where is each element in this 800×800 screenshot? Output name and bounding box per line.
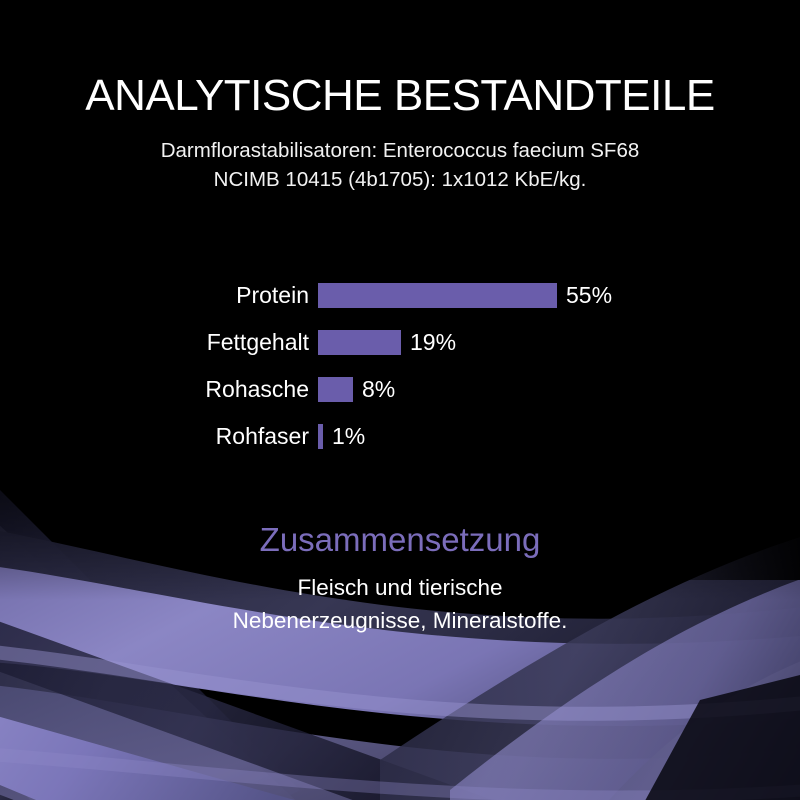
composition-line-2: Nebenerzeugnisse, Mineralstoffe.	[0, 604, 800, 637]
bar-value-fettgehalt: 19%	[410, 329, 456, 356]
subtitle-line-1: Darmflorastabilisatoren: Enterococcus fa…	[0, 136, 800, 165]
bar-track: 55%	[318, 282, 800, 309]
gold-divider-top	[140, 35, 660, 38]
subtitle-line-2: NCIMB 10415 (4b1705): 1x1012 KbE/kg.	[0, 165, 800, 194]
bar-track: 8%	[318, 376, 800, 403]
bar-label-fettgehalt: Fettgehalt	[0, 329, 318, 356]
bar-label-rohasche: Rohasche	[0, 376, 318, 403]
composition-section: Zusammensetzung Fleisch und tierische Ne…	[0, 519, 800, 637]
bar-label-rohfaser: Rohfaser	[0, 423, 318, 450]
chart-row: Rohasche 8%	[0, 366, 800, 413]
bar-label-protein: Protein	[0, 282, 318, 309]
bar-value-rohfaser: 1%	[332, 423, 365, 450]
header: ANALYTISCHE BESTANDTEILE Darmflorastabil…	[0, 70, 800, 194]
chart-row: Protein 55%	[0, 272, 800, 319]
analytical-constituents-bar-chart: Protein 55% Fettgehalt 19% Rohasche 8% R…	[0, 272, 800, 460]
nutrition-info-card: ANALYTISCHE BESTANDTEILE Darmflorastabil…	[0, 0, 800, 800]
bar-rohfaser	[318, 424, 323, 449]
bar-protein	[318, 283, 557, 308]
subtitle: Darmflorastabilisatoren: Enterococcus fa…	[0, 136, 800, 194]
bar-track: 1%	[318, 423, 800, 450]
bar-rohasche	[318, 377, 353, 402]
chart-row: Rohfaser 1%	[0, 413, 800, 460]
chart-row: Fettgehalt 19%	[0, 319, 800, 366]
bar-fettgehalt	[318, 330, 401, 355]
bar-track: 19%	[318, 329, 800, 356]
bar-value-rohasche: 8%	[362, 376, 395, 403]
gold-divider-bottom	[140, 762, 660, 765]
page-title: ANALYTISCHE BESTANDTEILE	[0, 70, 800, 122]
composition-line-1: Fleisch und tierische	[0, 571, 800, 604]
composition-heading: Zusammensetzung	[0, 519, 800, 561]
composition-body: Fleisch und tierische Nebenerzeugnisse, …	[0, 571, 800, 637]
bar-value-protein: 55%	[566, 282, 612, 309]
